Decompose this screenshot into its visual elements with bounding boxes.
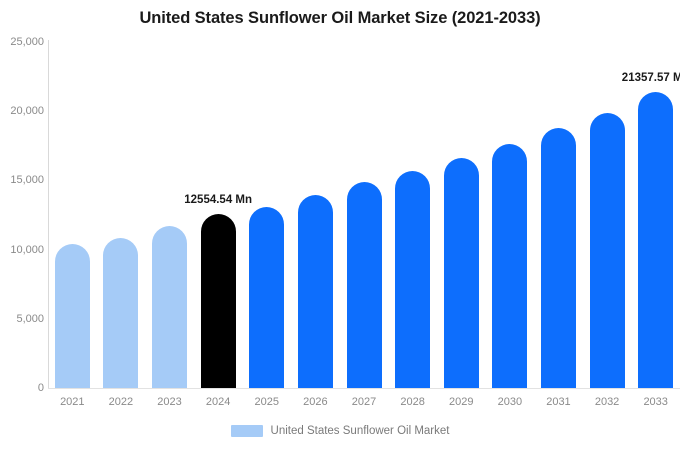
x-tick-label-2029: 2029 (437, 396, 486, 408)
legend-label: United States Sunflower Oil Market (271, 425, 450, 437)
bar-2026[interactable] (298, 195, 333, 388)
y-tick-label: 20,000 (0, 105, 44, 117)
bar-value-label-2033: 21357.57 Mn (622, 72, 680, 84)
bar-2027[interactable] (347, 182, 382, 388)
bar-2033[interactable] (638, 92, 673, 388)
legend-swatch-icon (231, 425, 263, 437)
y-tick-label: 5,000 (0, 313, 44, 325)
x-tick-label-2026: 2026 (291, 396, 340, 408)
x-tick-label-2032: 2032 (583, 396, 632, 408)
bar-2023[interactable] (152, 226, 187, 388)
bar-2031[interactable] (541, 128, 576, 388)
x-tick-label-2031: 2031 (534, 396, 583, 408)
chart-title: United States Sunflower Oil Market Size … (0, 9, 680, 28)
plot-area: 12554.54 Mn21357.57 Mn (48, 42, 680, 388)
bar-2032[interactable] (590, 113, 625, 388)
y-axis-tick-labels: 05,00010,00015,00020,00025,000 (0, 0, 44, 450)
bar-2025[interactable] (249, 207, 284, 388)
bar-2022[interactable] (103, 238, 138, 388)
x-tick-label-2030: 2030 (486, 396, 535, 408)
bar-2029[interactable] (444, 158, 479, 388)
x-tick-label-2022: 2022 (97, 396, 146, 408)
chart-legend: United States Sunflower Oil Market (0, 425, 680, 437)
x-tick-label-2033: 2033 (631, 396, 680, 408)
y-tick-label: 0 (0, 382, 44, 394)
bar-2030[interactable] (492, 144, 527, 388)
x-tick-label-2025: 2025 (242, 396, 291, 408)
bar-value-label-2024: 12554.54 Mn (184, 194, 252, 206)
bar-2021[interactable] (55, 244, 90, 388)
bar-2024[interactable] (201, 214, 236, 388)
y-tick-label: 15,000 (0, 174, 44, 186)
y-tick-label: 25,000 (0, 36, 44, 48)
bar-2028[interactable] (395, 171, 430, 388)
x-tick-label-2024: 2024 (194, 396, 243, 408)
chart-container: United States Sunflower Oil Market Size … (0, 0, 680, 450)
x-tick-label-2027: 2027 (340, 396, 389, 408)
x-tick-label-2028: 2028 (388, 396, 437, 408)
x-axis-line (48, 388, 680, 389)
x-tick-label-2023: 2023 (145, 396, 194, 408)
x-tick-label-2021: 2021 (48, 396, 97, 408)
x-axis-tick-labels: 2021202220232024202520262027202820292030… (48, 396, 680, 416)
y-tick-label: 10,000 (0, 244, 44, 256)
